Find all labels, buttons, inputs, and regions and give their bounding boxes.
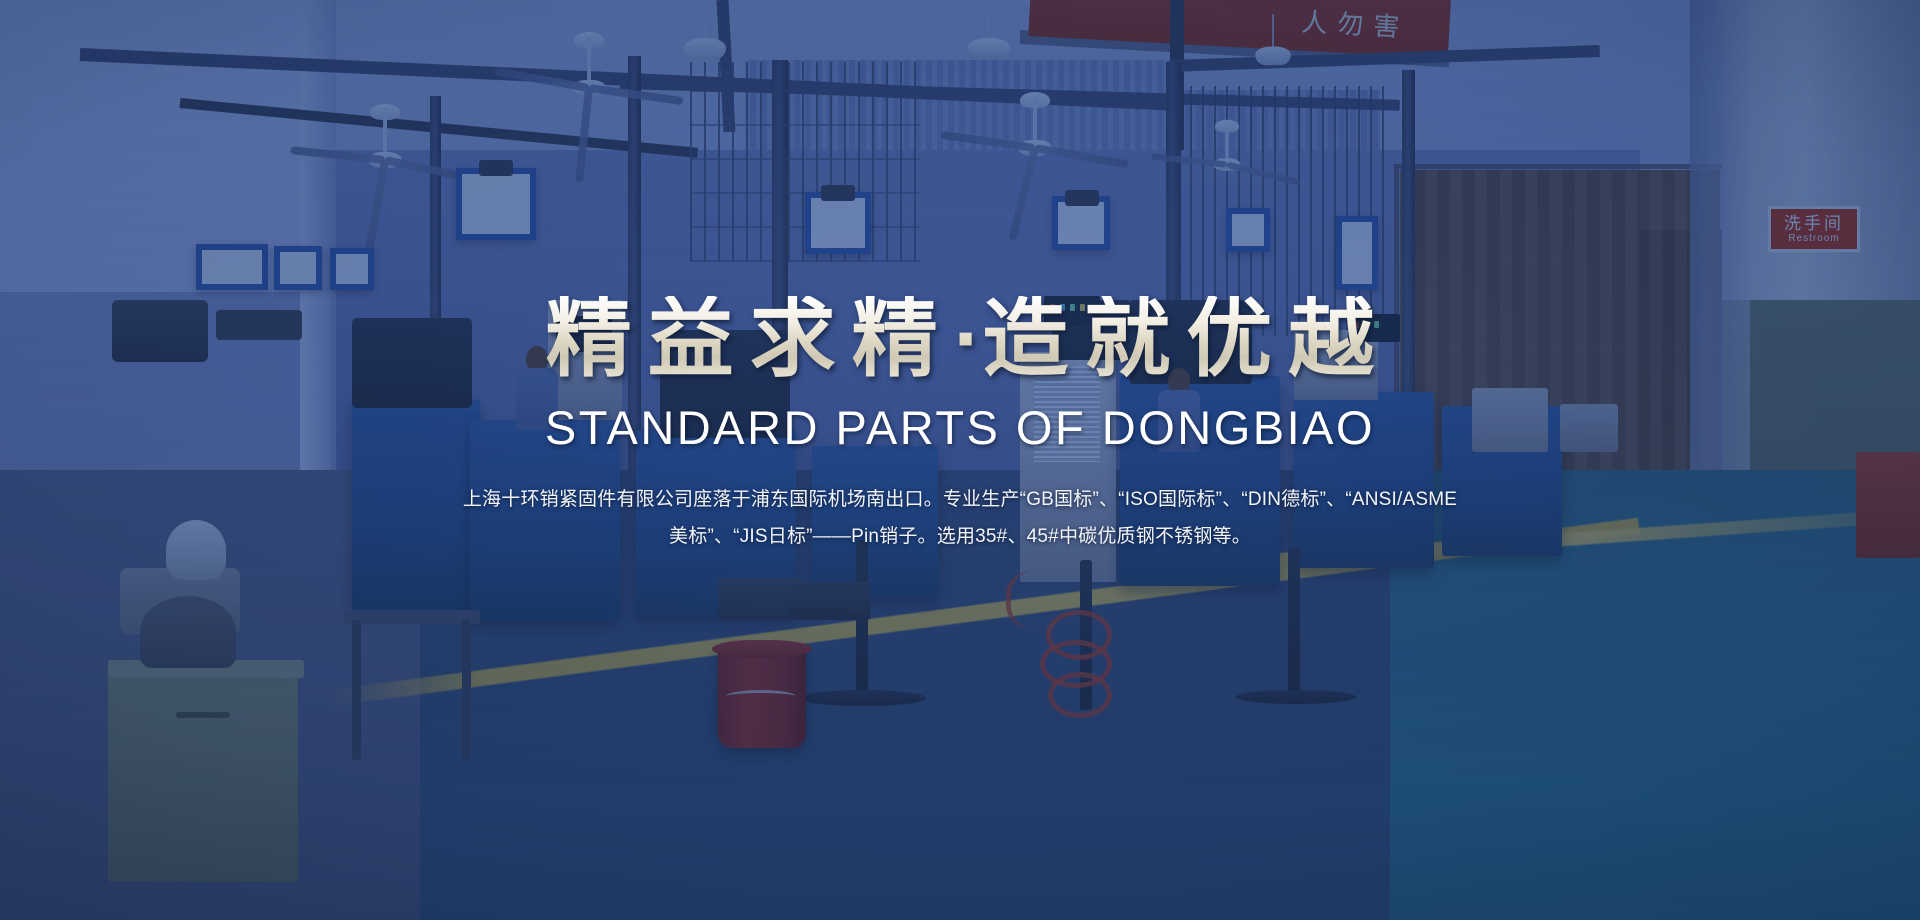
hero-content: 精益求精·造就优越 STANDARD PARTS OF DONGBIAO 上海十… xyxy=(0,0,1920,920)
hero-title-separator: · xyxy=(954,291,983,387)
hero-banner: 洗手间 Restroom 人勿害 xyxy=(0,0,1920,920)
hero-title-part1: 精益求精 xyxy=(546,291,954,387)
hero-description: 上海十环销紧固件有限公司座落于浦东国际机场南出口。专业生产“GB国标”、“ISO… xyxy=(460,481,1460,555)
hero-title: 精益求精·造就优越 xyxy=(530,296,1391,384)
hero-subtitle: STANDARD PARTS OF DONGBIAO xyxy=(545,404,1375,451)
hero-title-part2: 造就优越 xyxy=(982,291,1390,387)
